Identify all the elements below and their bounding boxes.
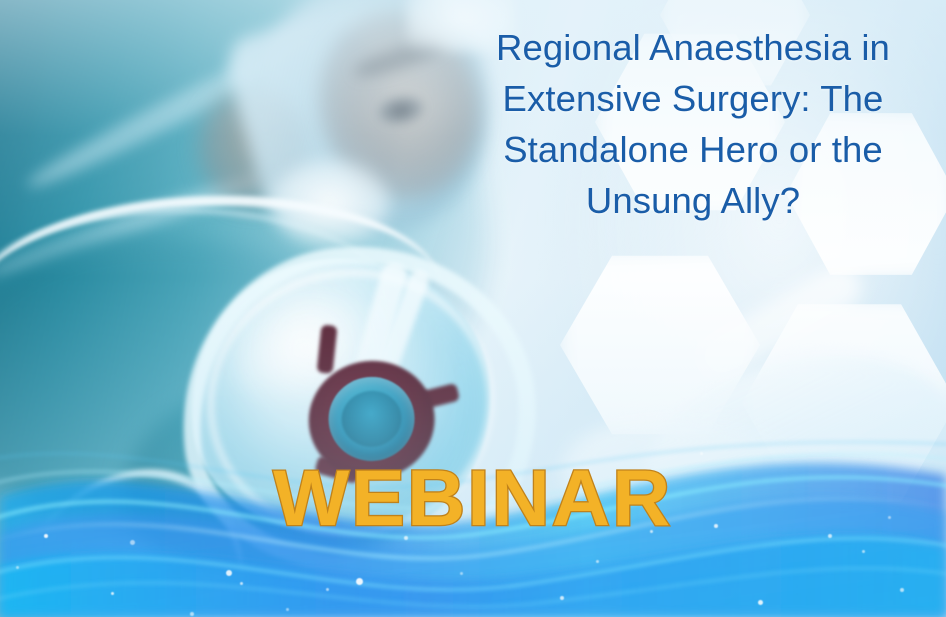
title-line-3: Standalone Hero or the — [444, 124, 942, 175]
sparkle-dot — [888, 516, 891, 519]
sparkle-dot — [111, 592, 114, 595]
sparkle-dot — [326, 588, 329, 591]
sparkle-dot — [404, 536, 408, 540]
wave-decoration — [0, 427, 946, 617]
page-title: Regional Anaesthesia in Extensive Surger… — [444, 22, 942, 226]
sparkle-dot — [714, 524, 718, 528]
sparkle-dot — [560, 596, 564, 600]
sparkle-dot — [650, 530, 653, 533]
sparkle-dot — [900, 588, 904, 592]
sparkle-dot — [356, 578, 363, 585]
sparkle-dot — [44, 534, 48, 538]
sparkle-dot — [16, 566, 19, 569]
sparkle-dot — [240, 582, 243, 585]
title-line-1: Regional Anaesthesia in — [444, 22, 942, 73]
title-line-4: Unsung Ally? — [444, 175, 942, 226]
sparkle-dot — [700, 452, 703, 455]
sparkle-dot — [130, 540, 135, 545]
sparkle-dot — [828, 534, 832, 538]
title-line-2: Extensive Surgery: The — [444, 73, 942, 124]
sparkle-dot — [286, 608, 289, 611]
sparkle-dot — [758, 600, 763, 605]
sparkle-dot — [190, 612, 194, 616]
webinar-banner: Regional Anaesthesia in Extensive Surger… — [0, 0, 946, 617]
sparkle-dot — [460, 572, 463, 575]
sparkle-dot — [862, 550, 865, 553]
wave-svg — [0, 427, 946, 617]
sparkle-dot — [226, 570, 232, 576]
sparkle-dot — [596, 560, 599, 563]
